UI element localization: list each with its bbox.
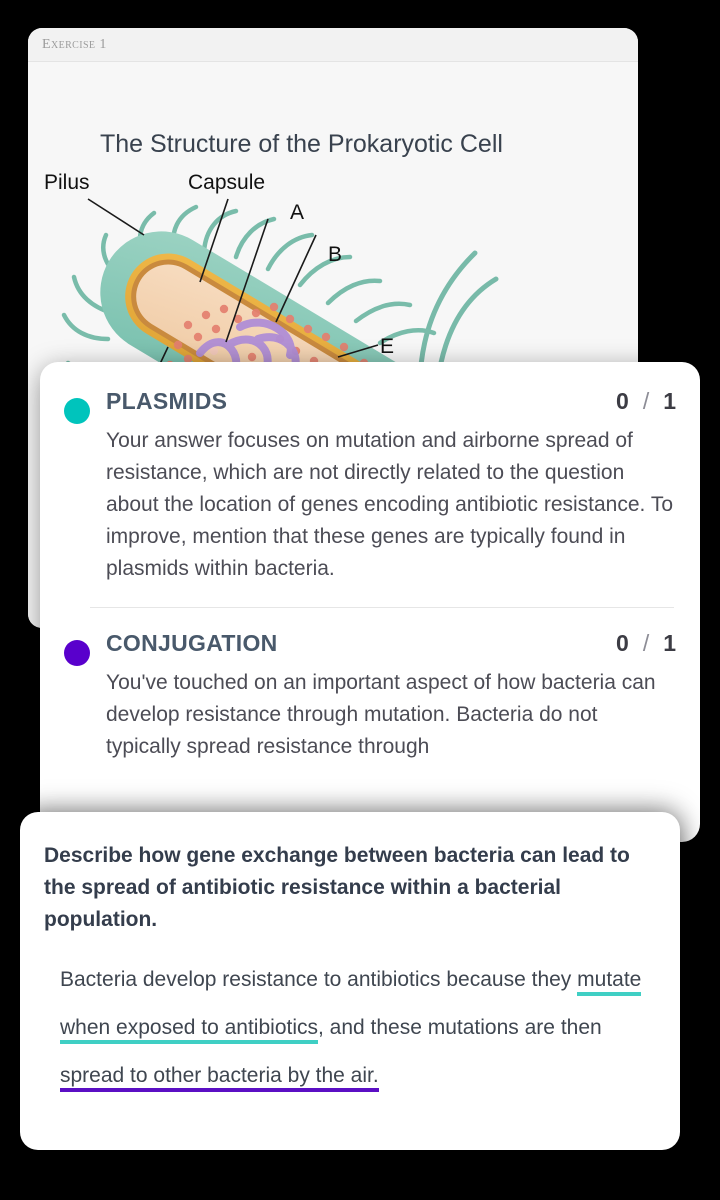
score-value: 0 [616, 388, 629, 415]
diagram-title: The Structure of the Prokaryotic Cell [100, 130, 503, 159]
student-answer[interactable]: Bacteria develop resistance to antibioti… [60, 956, 654, 1100]
exercise-label: Exercise 1 [42, 37, 107, 53]
answer-segment-plain: , and these mutations are then [318, 1016, 602, 1039]
feedback-item-conjugation[interactable]: CONJUGATION 0 / 1 You've touched on an i… [64, 630, 676, 763]
diagram-label-e: E [380, 335, 394, 358]
feedback-item-content: PLASMIDS 0 / 1 Your answer focuses on mu… [106, 388, 676, 585]
answer-highlight-purple[interactable]: spread to other bacteria by the air. [60, 1064, 379, 1092]
feedback-card: PLASMIDS 0 / 1 Your answer focuses on mu… [40, 362, 700, 842]
answer-segment-plain: Bacteria develop resistance to antibioti… [60, 968, 577, 991]
exercise-header: Exercise 1 [28, 28, 638, 62]
answer-card: Describe how gene exchange between bacte… [20, 812, 680, 1150]
score-total: 1 [663, 630, 676, 657]
feedback-item-header: PLASMIDS 0 / 1 [106, 388, 676, 415]
feedback-text-conjugation: You've touched on an important aspect of… [106, 667, 676, 763]
screen-root: Exercise 1 The Structure of the Prokaryo… [0, 0, 720, 1200]
score-separator: / [643, 630, 649, 657]
feedback-title-conjugation: CONJUGATION [106, 630, 278, 657]
feedback-title-plasmids: PLASMIDS [106, 388, 227, 415]
diagram-label-pilus: Pilus [44, 171, 90, 194]
diagram-label-capsule: Capsule [188, 171, 265, 194]
feedback-item-header: CONJUGATION 0 / 1 [106, 630, 676, 657]
feedback-item-content: CONJUGATION 0 / 1 You've touched on an i… [106, 630, 676, 763]
feedback-score-plasmids: 0 / 1 [616, 388, 676, 415]
status-dot-plasmids [64, 398, 90, 424]
status-dot-conjugation [64, 640, 90, 666]
feedback-score-conjugation: 0 / 1 [616, 630, 676, 657]
question-prompt: Describe how gene exchange between bacte… [44, 840, 654, 936]
feedback-item-plasmids[interactable]: PLASMIDS 0 / 1 Your answer focuses on mu… [64, 388, 676, 585]
diagram-label-a: A [290, 201, 304, 224]
feedback-divider [90, 607, 674, 608]
score-total: 1 [663, 388, 676, 415]
score-separator: / [643, 388, 649, 415]
feedback-text-plasmids: Your answer focuses on mutation and airb… [106, 425, 676, 585]
diagram-label-b: B [328, 243, 342, 266]
score-value: 0 [616, 630, 629, 657]
